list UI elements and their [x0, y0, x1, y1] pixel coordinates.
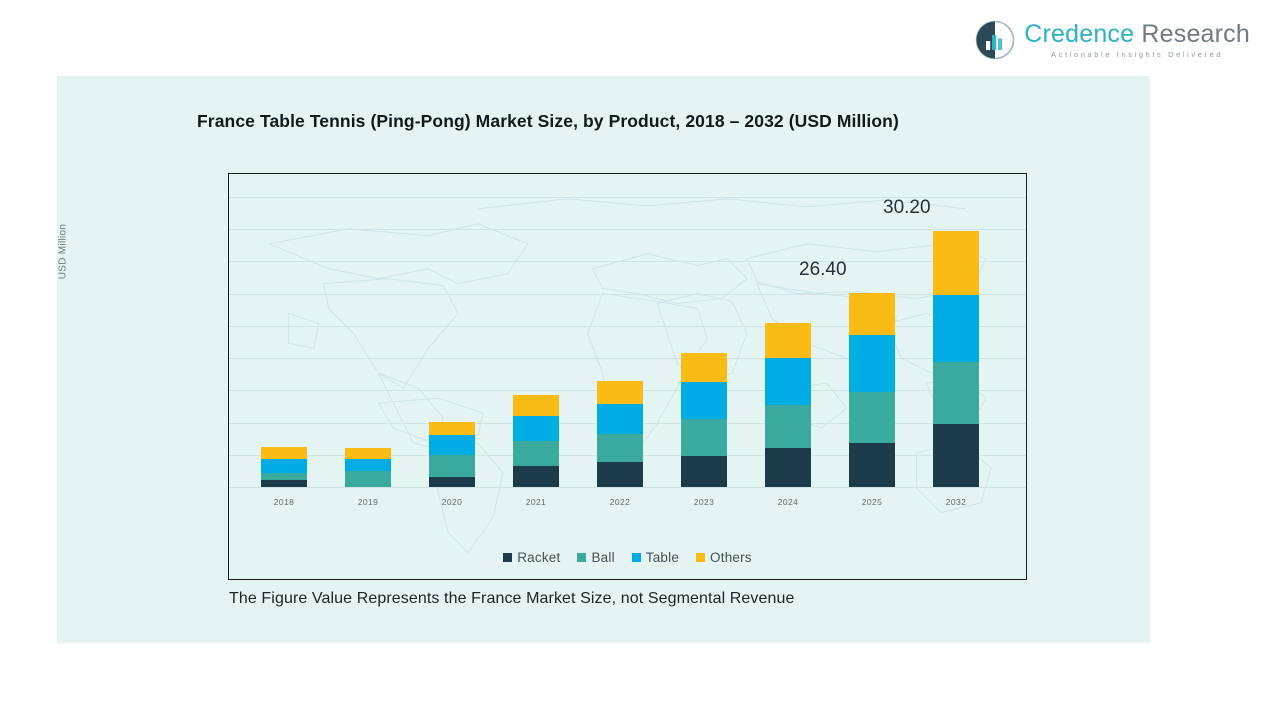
chart-legend: RacketBallTableOthers	[229, 550, 1026, 565]
plot-area: 201820192020202120222023202420252032	[257, 174, 1014, 579]
bar-segment-others[interactable]	[261, 447, 307, 459]
bar-segment-table[interactable]	[681, 382, 727, 419]
bar-segment-racket[interactable]	[849, 443, 895, 487]
bar-segment-table[interactable]	[345, 459, 391, 471]
bar-segment-ball[interactable]	[933, 362, 979, 424]
legend-swatch-icon	[503, 553, 512, 562]
brand-wordmark: Credence Research Actionable Insights De…	[1024, 22, 1250, 59]
bar-segment-table[interactable]	[597, 404, 643, 434]
bar-group[interactable]: 2019	[345, 448, 391, 487]
legend-label: Others	[710, 550, 752, 565]
bar-segment-ball[interactable]	[849, 392, 895, 443]
bar-group[interactable]: 2025	[849, 293, 895, 487]
legend-swatch-icon	[632, 553, 641, 562]
bar-group[interactable]: 2032	[933, 231, 979, 487]
legend-swatch-icon	[577, 553, 586, 562]
bar-segment-others[interactable]	[849, 293, 895, 335]
x-axis-tick: 2025	[835, 497, 909, 507]
bar-segment-racket[interactable]	[429, 477, 475, 487]
bar-segment-racket[interactable]	[261, 480, 307, 487]
footer-note: The Figure Value Represents the France M…	[229, 590, 795, 608]
x-axis-tick: 2019	[331, 497, 405, 507]
bar-segment-racket[interactable]	[681, 456, 727, 487]
bar-segment-table[interactable]	[933, 295, 979, 362]
value-label: 30.20	[883, 197, 931, 219]
bar-segment-others[interactable]	[597, 381, 643, 404]
bar-segment-ball[interactable]	[597, 434, 643, 463]
bar-group[interactable]: 2022	[597, 381, 643, 487]
bar-segment-others[interactable]	[429, 422, 475, 436]
bar-chart-circle-icon	[975, 20, 1015, 60]
legend-item-ball[interactable]: Ball	[577, 550, 614, 565]
brand-logo: Credence Research Actionable Insights De…	[975, 20, 1250, 60]
bar-segment-others[interactable]	[765, 323, 811, 358]
brand-name-part1: Credence	[1024, 20, 1134, 48]
bar-segment-table[interactable]	[513, 416, 559, 441]
legend-swatch-icon	[696, 553, 705, 562]
bar-segment-racket[interactable]	[597, 462, 643, 487]
bar-segment-ball[interactable]	[681, 419, 727, 455]
legend-label: Racket	[517, 550, 560, 565]
brand-tagline: Actionable Insights Delivered	[1024, 51, 1250, 59]
bar-segment-ball[interactable]	[513, 441, 559, 466]
bar-segment-ball[interactable]	[429, 455, 475, 477]
bar-segment-table[interactable]	[765, 358, 811, 405]
x-axis-tick: 2021	[499, 497, 573, 507]
bar-segment-table[interactable]	[849, 335, 895, 392]
chart-title: France Table Tennis (Ping-Pong) Market S…	[197, 111, 899, 132]
bar-group[interactable]: 2018	[261, 447, 307, 487]
chart-panel: France Table Tennis (Ping-Pong) Market S…	[57, 76, 1150, 643]
plot-frame: 201820192020202120222023202420252032 30.…	[228, 173, 1027, 580]
x-axis-tick: 2022	[583, 497, 657, 507]
value-label: 26.40	[799, 259, 847, 281]
bar-segment-racket[interactable]	[765, 448, 811, 487]
x-axis-tick: 2023	[667, 497, 741, 507]
bar-segment-others[interactable]	[345, 448, 391, 459]
bar-group[interactable]: 2024	[765, 323, 811, 487]
bar-segment-ball[interactable]	[345, 471, 391, 487]
legend-item-racket[interactable]: Racket	[503, 550, 560, 565]
bar-segment-ball[interactable]	[261, 473, 307, 481]
bar-group[interactable]: 2023	[681, 353, 727, 487]
brand-name-part2: Research	[1141, 20, 1250, 48]
bar-segment-others[interactable]	[513, 395, 559, 415]
x-axis-tick: 2020	[415, 497, 489, 507]
bar-segment-others[interactable]	[681, 353, 727, 382]
bar-segment-racket[interactable]	[513, 466, 559, 487]
y-axis-label: USD Million	[58, 102, 69, 402]
x-axis-tick: 2018	[247, 497, 321, 507]
x-axis-tick: 2024	[751, 497, 825, 507]
bar-segment-table[interactable]	[261, 459, 307, 473]
x-axis-tick: 2032	[919, 497, 993, 507]
bar-group[interactable]: 2021	[513, 395, 559, 487]
bar-segment-others[interactable]	[933, 231, 979, 295]
legend-label: Ball	[591, 550, 614, 565]
legend-item-table[interactable]: Table	[632, 550, 679, 565]
legend-label: Table	[646, 550, 679, 565]
bar-segment-ball[interactable]	[765, 405, 811, 448]
legend-item-others[interactable]: Others	[696, 550, 752, 565]
bar-group[interactable]: 2020	[429, 422, 475, 487]
bar-segment-racket[interactable]	[933, 424, 979, 487]
bar-segment-table[interactable]	[429, 435, 475, 455]
brand-name: Credence Research	[1024, 22, 1250, 47]
